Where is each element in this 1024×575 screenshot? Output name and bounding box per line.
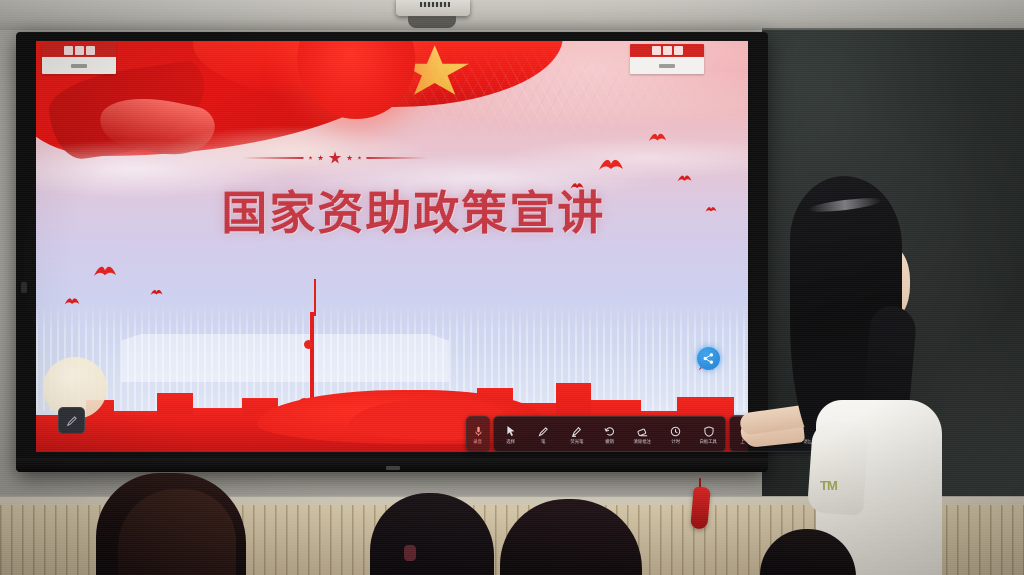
pen-tool-icon[interactable] [58,407,85,434]
undo-glyph [604,425,615,438]
projector-mount [408,16,456,28]
divider-star-icon [347,155,353,161]
red-bird-icon [705,205,717,214]
presenter-sleeve-print: TM [820,476,846,496]
highlighter-glyph [571,425,582,438]
highlighter-icon[interactable]: 荧光笔 [560,417,593,451]
panel-brand-logo [386,466,400,470]
ir-sensor-icon [21,282,27,293]
eraser-icon[interactable]: 清除批注 [626,417,659,451]
toolbar-label: 荧光笔 [570,439,583,444]
panel-screen[interactable]: 国家资助政策宣讲 [36,41,748,452]
oriental-pearl-tower-sphere-upper [304,340,313,349]
microphone-icon[interactable]: 录音 [467,417,489,451]
toolbar-label: 白板工具 [700,439,717,444]
watermark-banner-left [42,44,116,74]
banner-top [42,44,116,57]
toolbar-label: 撤销 [605,439,614,444]
classroom-scene: 国家资助政策宣讲 [0,0,1024,575]
banner-bottom [42,57,116,74]
divider-star-icon [329,151,342,164]
divider-star-icon [318,155,324,161]
clock-icon[interactable]: 计时 [659,417,692,451]
divider-line-left [242,157,303,159]
red-bird-icon [150,288,163,297]
presenter-sleeve [807,420,869,516]
pen-icon[interactable]: 笔 [527,417,560,451]
red-bird-icon [93,263,117,280]
red-bird-icon [648,131,667,144]
toolbar-group-annotation[interactable]: 选择 笔 荧光笔 撤销 [493,416,726,452]
toolbar-label: 计时 [671,439,680,444]
panel-bezel-bottom [16,458,768,472]
presentation-slide[interactable]: 国家资助政策宣讲 [36,41,748,452]
banner-bottom [630,57,704,74]
student-hair-accessory [404,545,416,561]
toolbar-label: 选择 [506,439,515,444]
presenter-person: TM [782,176,946,575]
toolbar-label: 录音 [474,439,483,444]
divider-line-right [367,157,428,159]
oriental-pearl-tower-spire [314,279,316,316]
projector-vent-icon [420,2,450,7]
toolbar-group-mic[interactable]: 录音 [466,416,490,452]
clock-glyph [670,425,681,438]
toolbar-label: 笔 [541,439,545,444]
toolbar-label: 清除批注 [634,439,651,444]
mic-glyph [475,425,482,438]
shield-icon[interactable]: 白板工具 [692,417,725,451]
slide-title: 国家资助政策宣讲 [221,177,605,243]
pen-glyph [538,425,549,438]
cursor-icon[interactable]: 选择 [494,417,527,451]
eraser-glyph [637,425,649,438]
undo-icon[interactable]: 撤销 [593,417,626,451]
shield-glyph [704,425,714,438]
ceiling-projector [396,0,470,16]
star-divider [242,150,427,166]
red-bird-icon [677,173,692,184]
red-bird-icon [598,156,624,174]
divider-star-icon [309,156,313,160]
watermark-banner-right [630,44,704,74]
cursor-glyph [506,425,516,438]
interactive-flat-panel[interactable]: 国家资助政策宣讲 [16,32,768,472]
divider-star-icon [358,156,362,160]
banner-top [630,44,704,57]
